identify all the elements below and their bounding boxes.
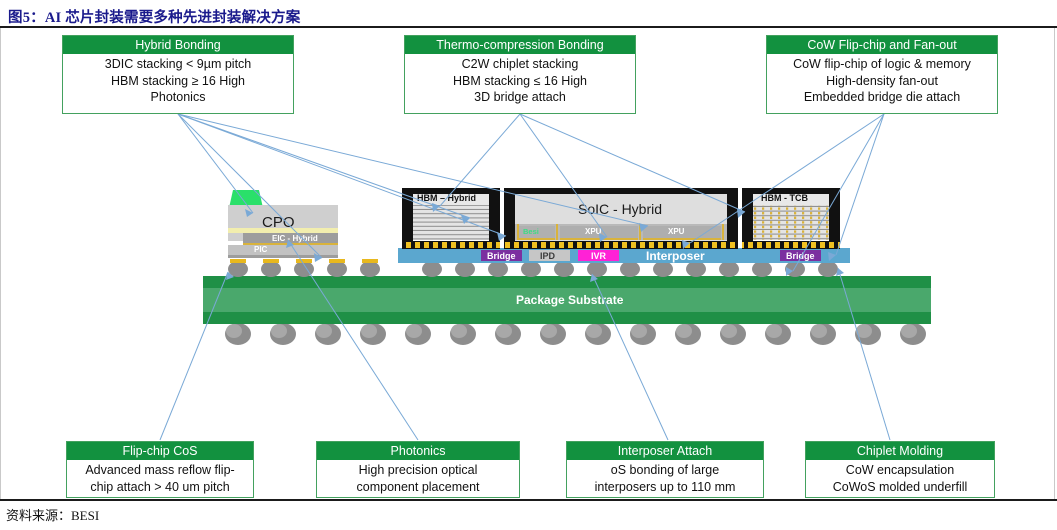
callout-line: CoW flip-chip of logic & memory bbox=[770, 56, 994, 73]
callout-line: High precision optical bbox=[320, 462, 516, 479]
callout-body: CoW flip-chip of logic & memory High-den… bbox=[767, 54, 997, 109]
callout-photonics[interactable]: Photonics High precision optical compone… bbox=[316, 441, 520, 498]
callout-body: C2W chiplet stacking HBM stacking ≤ 16 H… bbox=[405, 54, 635, 109]
callout-line: Advanced mass reflow flip- bbox=[70, 462, 250, 479]
callout-line: High-density fan-out bbox=[770, 73, 994, 90]
callout-line: chip attach > 40 um pitch bbox=[70, 479, 250, 496]
callout-header: Flip-chip CoS bbox=[67, 442, 253, 460]
callout-header: Hybrid Bonding bbox=[63, 36, 293, 54]
callout-chiplet-molding[interactable]: Chiplet Molding CoW encapsulation CoWoS … bbox=[805, 441, 995, 498]
callout-line: CoWoS molded underfill bbox=[809, 479, 991, 496]
callout-thermo-compression-bonding[interactable]: Thermo-compression Bonding C2W chiplet s… bbox=[404, 35, 636, 114]
callout-line: component placement bbox=[320, 479, 516, 496]
callout-body: oS bonding of large interposers up to 11… bbox=[567, 460, 763, 498]
callout-header: Chiplet Molding bbox=[806, 442, 994, 460]
callout-hybrid-bonding[interactable]: Hybrid Bonding 3DIC stacking < 9µm pitch… bbox=[62, 35, 294, 114]
callout-interposer-attach[interactable]: Interposer Attach oS bonding of large in… bbox=[566, 441, 764, 498]
callout-header: Photonics bbox=[317, 442, 519, 460]
callout-line: 3D bridge attach bbox=[408, 89, 632, 106]
callout-body: 3DIC stacking < 9µm pitch HBM stacking ≥… bbox=[63, 54, 293, 109]
callout-body: Advanced mass reflow flip- chip attach >… bbox=[67, 460, 253, 498]
callout-header: Thermo-compression Bonding bbox=[405, 36, 635, 54]
callout-header: CoW Flip-chip and Fan-out bbox=[767, 36, 997, 54]
callout-cow-flip-chip-and-fan-out[interactable]: CoW Flip-chip and Fan-out CoW flip-chip … bbox=[766, 35, 998, 114]
callout-body: CoW encapsulation CoWoS molded underfill bbox=[806, 460, 994, 498]
callout-line: HBM stacking ≥ 16 High bbox=[66, 73, 290, 90]
callout-line: C2W chiplet stacking bbox=[408, 56, 632, 73]
callout-line: Embedded bridge die attach bbox=[770, 89, 994, 106]
callout-header: Interposer Attach bbox=[567, 442, 763, 460]
callout-line: interposers up to 110 mm bbox=[570, 479, 760, 496]
callout-line: HBM stacking ≤ 16 High bbox=[408, 73, 632, 90]
callout-body: High precision optical component placeme… bbox=[317, 460, 519, 498]
callout-line: oS bonding of large bbox=[570, 462, 760, 479]
callout-line: Photonics bbox=[66, 89, 290, 106]
callout-line: 3DIC stacking < 9µm pitch bbox=[66, 56, 290, 73]
callout-flip-chip-cos[interactable]: Flip-chip CoS Advanced mass reflow flip-… bbox=[66, 441, 254, 498]
callout-line: CoW encapsulation bbox=[809, 462, 991, 479]
